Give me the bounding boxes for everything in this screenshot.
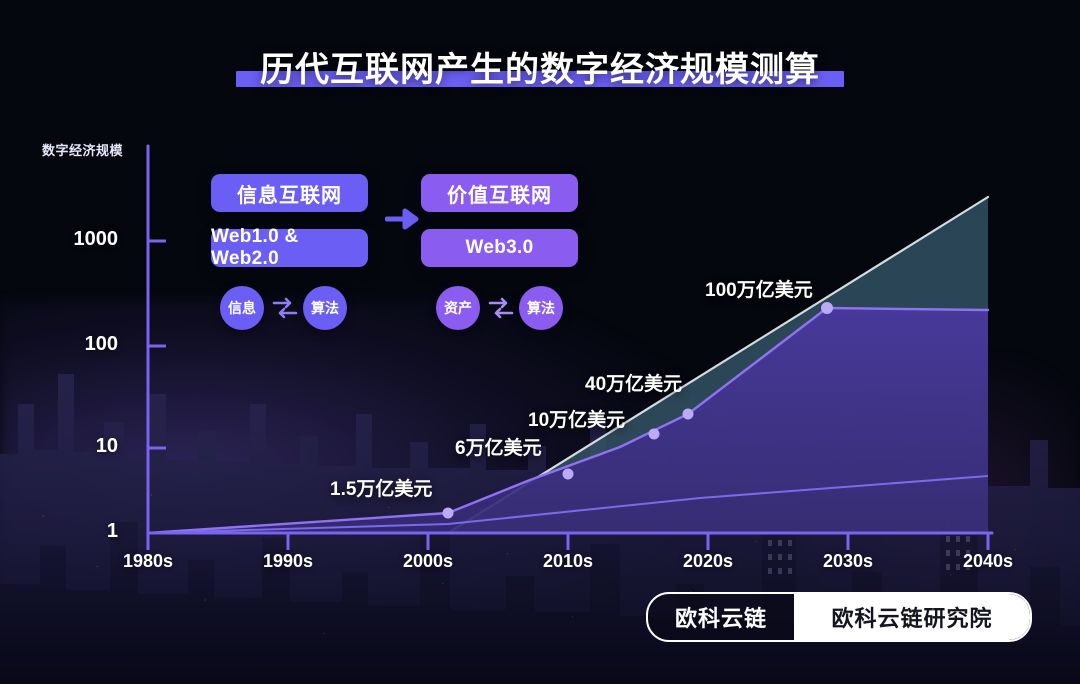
card-web3[interactable]: Web3.0 (421, 229, 578, 267)
annotation-40-trillion: 40万亿美元 (585, 369, 682, 396)
infographic-canvas: 历代互联网产生的数字经济规模测算 (0, 0, 1080, 684)
chip-algorithm-left-label: 算法 (311, 298, 339, 318)
card-web1-web2[interactable]: Web1.0 & Web2.0 (211, 229, 368, 267)
card-information-internet[interactable]: 信息互联网 (211, 174, 368, 212)
y-tick-1000: 1000 (38, 228, 118, 251)
chip-asset[interactable]: 资产 (436, 286, 480, 330)
chip-information-label: 信息 (228, 298, 256, 318)
card-information-internet-label: 信息互联网 (237, 179, 342, 208)
annotation-100-trillion: 100万亿美元 (705, 275, 813, 302)
brand-institute: 欧科云链研究院 (794, 594, 1030, 640)
brand-name: 欧科云链 (648, 594, 794, 640)
brand-badge: 欧科云链 欧科云链研究院 (646, 592, 1032, 642)
annotation-1-5-trillion: 1.5万亿美元 (330, 474, 432, 501)
chip-algorithm-right[interactable]: 算法 (519, 286, 563, 330)
annotation-6-trillion: 6万亿美元 (455, 433, 542, 460)
card-web3-label: Web3.0 (466, 237, 534, 259)
chart-svg (0, 0, 1080, 684)
y-tick-100: 100 (38, 333, 118, 356)
chip-information[interactable]: 信息 (220, 286, 264, 330)
y-tick-10: 10 (38, 435, 118, 458)
bidirectional-arrows-icon-right (488, 295, 514, 321)
chip-algorithm-right-label: 算法 (527, 298, 555, 318)
x-tick-2020s: 2020s (653, 551, 763, 572)
card-value-internet[interactable]: 价值互联网 (421, 174, 578, 212)
card-value-internet-label: 价值互联网 (447, 179, 552, 208)
page-title: 历代互联网产生的数字经济规模测算 (260, 42, 820, 91)
x-tick-1980s: 1980s (93, 551, 203, 572)
bidirectional-arrows-icon-left (272, 295, 298, 321)
card-web1-web2-label: Web1.0 & Web2.0 (211, 226, 368, 270)
x-tick-2040s: 2040s (933, 551, 1043, 572)
x-tick-2000s: 2000s (373, 551, 483, 572)
x-tick-1990s: 1990s (233, 551, 343, 572)
y-tick-1: 1 (38, 520, 118, 543)
y-axis-title: 数字经济规模 (42, 140, 123, 159)
x-tick-2030s: 2030s (793, 551, 903, 572)
chart-canvas: 数字经济规模 1000 100 10 1 1980s 1990s 2000s 2… (0, 0, 1080, 684)
chip-asset-label: 资产 (444, 298, 472, 318)
chip-algorithm-left[interactable]: 算法 (303, 286, 347, 330)
annotation-10-trillion: 10万亿美元 (528, 405, 625, 432)
right-arrow-icon (385, 206, 419, 232)
x-tick-2010s: 2010s (513, 551, 623, 572)
